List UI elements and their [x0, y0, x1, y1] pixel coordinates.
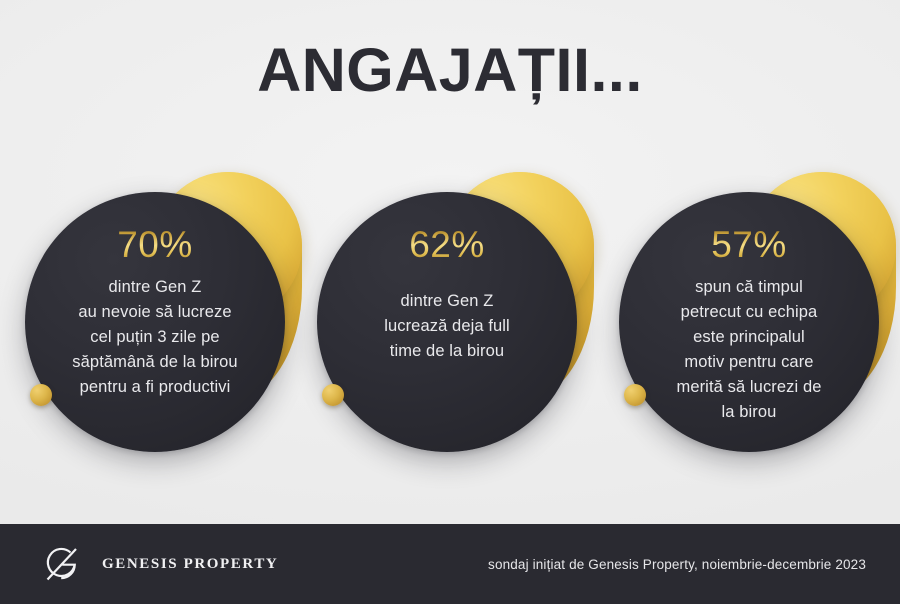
stat-description: dintre Gen Z lucrează deja full time de … [372, 289, 522, 364]
genesis-g-monogram-icon [36, 538, 88, 590]
gold-bead-icon [624, 384, 646, 406]
gold-bead-icon [322, 384, 344, 406]
brand-lockup: GENESIS PROPERTY [36, 538, 278, 590]
infographic-page: ANGAJAȚII... 70% dintre Gen Z au nevoie … [0, 0, 900, 604]
footer-bar: GENESIS PROPERTY sondaj inițiat de Genes… [0, 524, 900, 604]
stat-percentage: 62% [409, 226, 485, 263]
stat-description: spun că timpul petrecut cu echipa este p… [664, 275, 833, 425]
stat-card: 70% dintre Gen Z au nevoie să lucreze ce… [8, 172, 308, 452]
stat-circle: 62% dintre Gen Z lucrează deja full time… [317, 192, 577, 452]
gold-bead-icon [30, 384, 52, 406]
stat-percentage: 57% [711, 226, 787, 263]
survey-credit: sondaj inițiat de Genesis Property, noie… [488, 557, 866, 572]
stat-description: dintre Gen Z au nevoie să lucreze cel pu… [60, 275, 249, 400]
brand-name: GENESIS PROPERTY [102, 556, 278, 573]
stats-group: 70% dintre Gen Z au nevoie să lucreze ce… [0, 0, 900, 524]
stat-card: 57% spun că timpul petrecut cu echipa es… [602, 172, 900, 452]
stat-circle: 57% spun că timpul petrecut cu echipa es… [619, 192, 879, 452]
stat-circle: 70% dintre Gen Z au nevoie să lucreze ce… [25, 192, 285, 452]
stat-percentage: 70% [117, 226, 193, 263]
stat-card: 62% dintre Gen Z lucrează deja full time… [300, 172, 600, 452]
